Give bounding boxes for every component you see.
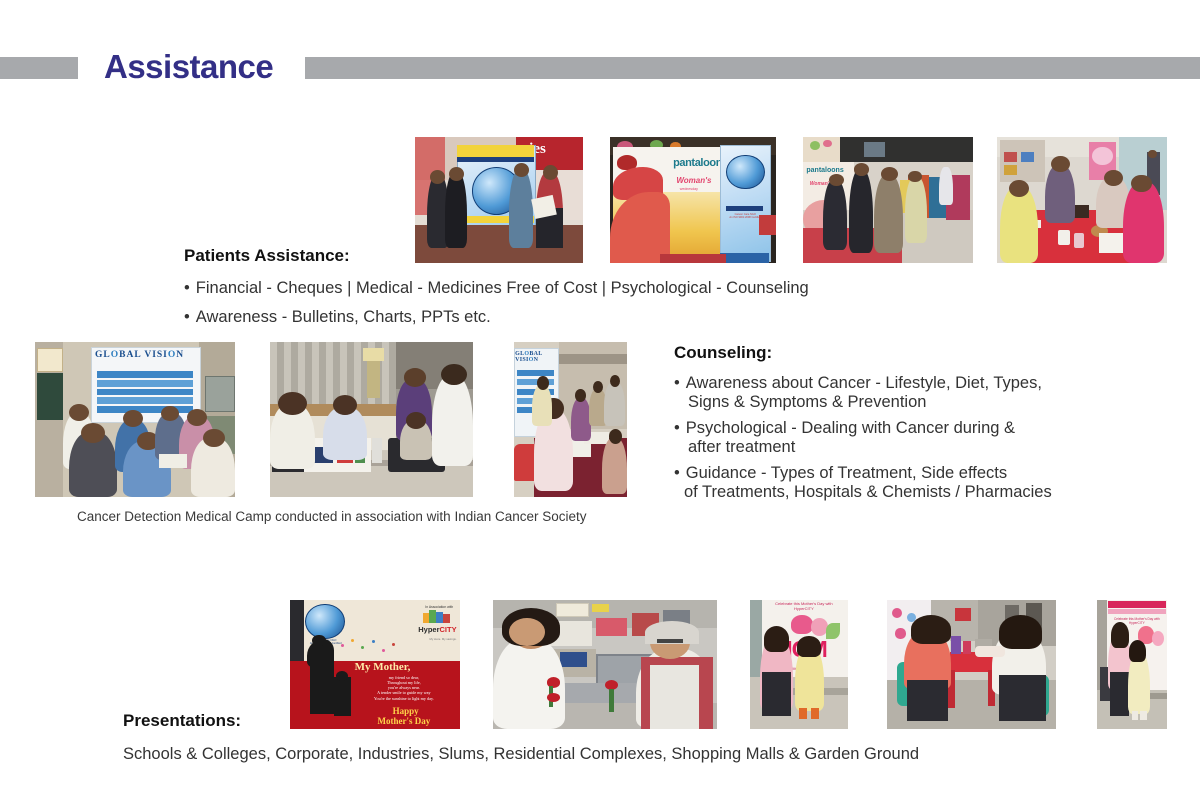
counseling-heading: Counseling: — [674, 343, 1052, 363]
list-item: •Awareness - Bulletins, Charts, PPTs etc… — [184, 308, 809, 327]
list-item-label: Psychological - Dealing with Cancer duri… — [686, 419, 1015, 437]
global-vision-meeting-photo: GLOBAL VISION — [35, 342, 235, 497]
mom-banner-photo-1: Celebrate this Mother's Day withHyperCIT… — [750, 600, 848, 729]
list-item-label-cont: Signs & Symptoms & Prevention — [674, 393, 1052, 412]
list-item-label: Awareness about Cancer - Lifestyle, Diet… — [686, 374, 1042, 392]
patients-assistance-list: •Financial - Cheques | Medical - Medicin… — [184, 279, 809, 327]
medical-camp-photo — [270, 342, 473, 497]
mothers-day-poster-photo: Cancer Care NGOAn ISO 9001:2008 Certifie… — [290, 600, 460, 729]
medical-camp-caption: Cancer Detection Medical Camp conducted … — [77, 509, 587, 524]
presentations-heading: Presentations: — [123, 711, 919, 731]
bullet-glyph: • — [674, 464, 680, 482]
list-item: •Psychological - Dealing with Cancer dur… — [674, 419, 1052, 457]
list-item-label-cont: of Treatments, Hospitals & Chemists / Ph… — [674, 483, 1052, 502]
list-item-label: Guidance - Types of Treatment, Side effe… — [686, 464, 1007, 482]
bullet-glyph: • — [184, 308, 190, 326]
presentations-block: Presentations: Schools & Colleges, Corpo… — [123, 711, 919, 764]
mall-banner-photo: nies — [415, 137, 583, 263]
registration-desk-photo: GLOBAL VISION — [514, 342, 627, 497]
list-item: •Guidance - Types of Treatment, Side eff… — [674, 464, 1052, 502]
header-bar-right — [305, 57, 1200, 79]
header-bar-left — [0, 57, 78, 79]
bullet-glyph: • — [674, 374, 680, 392]
patients-assistance-heading: Patients Assistance: — [184, 246, 809, 266]
mom-banner-photo-2: Celebrate this Mother's Day withHyperCIT… — [1097, 600, 1167, 729]
list-item: •Awareness about Cancer - Lifestyle, Die… — [674, 374, 1052, 412]
list-item-label-cont: after treatment — [674, 438, 1052, 457]
counseling-block: Counseling: •Awareness about Cancer - Li… — [674, 343, 1052, 509]
roses-supermarket-photo — [493, 600, 717, 729]
mall-group-photo: pantaloons Woman's — [803, 137, 973, 263]
bullet-glyph: • — [674, 419, 680, 437]
list-item-label: Awareness - Bulletins, Charts, PPTs etc. — [196, 308, 491, 326]
patients-assistance-block: Patients Assistance: •Financial - Cheque… — [184, 246, 809, 337]
activity-table-photo — [887, 600, 1056, 729]
red-table-photo — [997, 137, 1167, 263]
list-item-label: Financial - Cheques | Medical - Medicine… — [196, 279, 809, 297]
list-item: •Financial - Cheques | Medical - Medicin… — [184, 279, 809, 298]
page-title: Assistance — [96, 46, 281, 88]
presentations-text: Schools & Colleges, Corporate, Industrie… — [123, 745, 919, 764]
bullet-glyph: • — [184, 279, 190, 297]
pantaloons-photo: pantaloons Woman's wednesday Cancer Care… — [610, 137, 776, 263]
